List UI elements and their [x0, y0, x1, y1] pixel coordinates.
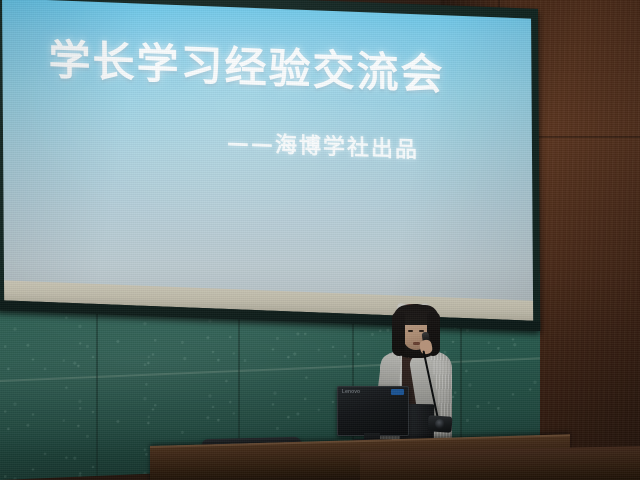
presenter-eye-left: [408, 330, 413, 332]
monitor-brand-label: Lenovo: [342, 389, 360, 395]
wall-panel-line-v1: [96, 292, 98, 476]
camera-icon: [427, 415, 452, 433]
lecture-hall-photo: 学长学习经验交流会 ——海博学社出品: [0, 0, 640, 480]
presenter-hair-side-left: [392, 312, 405, 356]
slide-subtitle: ——海博学社出品: [227, 125, 419, 164]
monitor-display: Lenovo: [337, 386, 409, 436]
projection-screen: 学长学习经验交流会 ——海博学社出品: [0, 0, 540, 331]
monitor-sticker: [391, 389, 404, 395]
podium-desk-front-panel: [360, 446, 640, 480]
projection-screen-surface: 学长学习经验交流会 ——海博学社出品: [2, 0, 533, 303]
monitor-icon: Lenovo: [337, 386, 407, 444]
camera-lens: [435, 419, 446, 430]
slide-title: 学长学习经验交流会: [48, 38, 444, 97]
